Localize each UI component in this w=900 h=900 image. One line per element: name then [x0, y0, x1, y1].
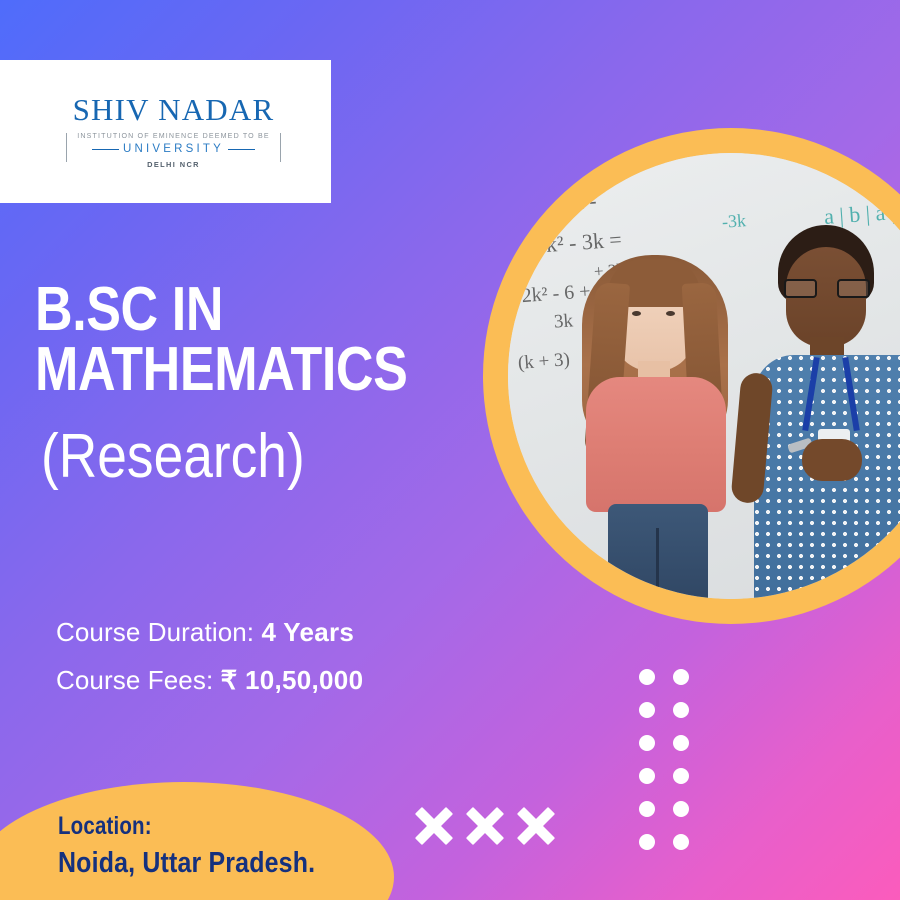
- dot-icon: [673, 768, 689, 784]
- course-duration-value: 4 Years: [261, 617, 354, 647]
- university-logo-card: SHIV NADAR INSTITUTION OF EMINENCE DEEME…: [0, 60, 331, 203]
- logo-tagline-block: INSTITUTION OF EMINENCE DEEMED TO BE UNI…: [66, 132, 281, 170]
- x-marks-decoration: [416, 808, 554, 844]
- eyeglasses-lens: [837, 279, 870, 298]
- dot-icon: [639, 768, 655, 784]
- logo-wordmark-text: SHIV NADAR: [73, 94, 275, 125]
- location-block: Location: Noida, Uttar Pradesh.: [58, 812, 357, 880]
- eyeglasses-icon: [784, 279, 870, 298]
- page-title: B.SC IN MATHEMATICS (Research): [35, 280, 475, 488]
- dot-grid-decoration: [639, 669, 689, 850]
- dot-icon: [639, 834, 655, 850]
- course-fees-value: ₹ 10,50,000: [221, 665, 364, 695]
- location-value: Noida, Uttar Pradesh.: [58, 847, 315, 880]
- course-duration-row: Course Duration: 4 Years: [56, 608, 363, 656]
- dot-icon: [639, 801, 655, 817]
- student-right-hands: [802, 439, 862, 481]
- student-right-figure: [736, 225, 900, 599]
- dot-icon: [639, 735, 655, 751]
- logo-university-row: UNIVERSITY: [92, 143, 255, 155]
- whiteboard-note: - 3k² - 3k -: [508, 188, 597, 221]
- student-photo-circle: k⁴ - 3k² - 3k² - 3k - k⁴ - 2k² - 3k = + …: [483, 128, 900, 624]
- student-left-jeans: [608, 504, 708, 599]
- location-label: Location:: [58, 812, 303, 841]
- course-duration-label: Course Duration:: [56, 617, 254, 647]
- dot-icon: [673, 669, 689, 685]
- logo-eminence-text: INSTITUTION OF EMINENCE DEEMED TO BE: [77, 132, 270, 142]
- student-left-eye: [632, 311, 641, 316]
- headline-line-2: MATHEMATICS: [35, 340, 405, 400]
- dot-icon: [673, 801, 689, 817]
- x-icon: [467, 808, 503, 844]
- headline-line-1: B.SC IN: [35, 280, 405, 340]
- course-details-block: Course Duration: 4 Years Course Fees: ₹ …: [56, 608, 363, 704]
- dot-icon: [639, 669, 655, 685]
- student-photo-image: k⁴ - 3k² - 3k² - 3k - k⁴ - 2k² - 3k = + …: [508, 153, 900, 599]
- headline-line-3: (Research): [41, 426, 414, 488]
- x-icon: [416, 808, 452, 844]
- logo-rule-left-decoration: [92, 149, 119, 151]
- dot-icon: [673, 834, 689, 850]
- x-icon: [518, 808, 554, 844]
- course-fees-row: Course Fees: ₹ 10,50,000: [56, 656, 363, 704]
- logo-region-text: DELHI NCR: [147, 160, 200, 169]
- student-left-sweater: [586, 377, 726, 512]
- course-fees-label: Course Fees:: [56, 665, 213, 695]
- dot-icon: [639, 702, 655, 718]
- student-left-eye: [666, 311, 675, 316]
- whiteboard-note: (k + 3): [517, 349, 570, 375]
- logo-rule-right-decoration: [228, 149, 255, 151]
- dot-icon: [673, 702, 689, 718]
- eyeglasses-lens: [784, 279, 817, 298]
- poster-canvas: SHIV NADAR INSTITUTION OF EMINENCE DEEME…: [0, 0, 900, 900]
- dot-icon: [673, 735, 689, 751]
- logo-university-text: UNIVERSITY: [123, 143, 224, 155]
- student-left-figure: [570, 249, 740, 599]
